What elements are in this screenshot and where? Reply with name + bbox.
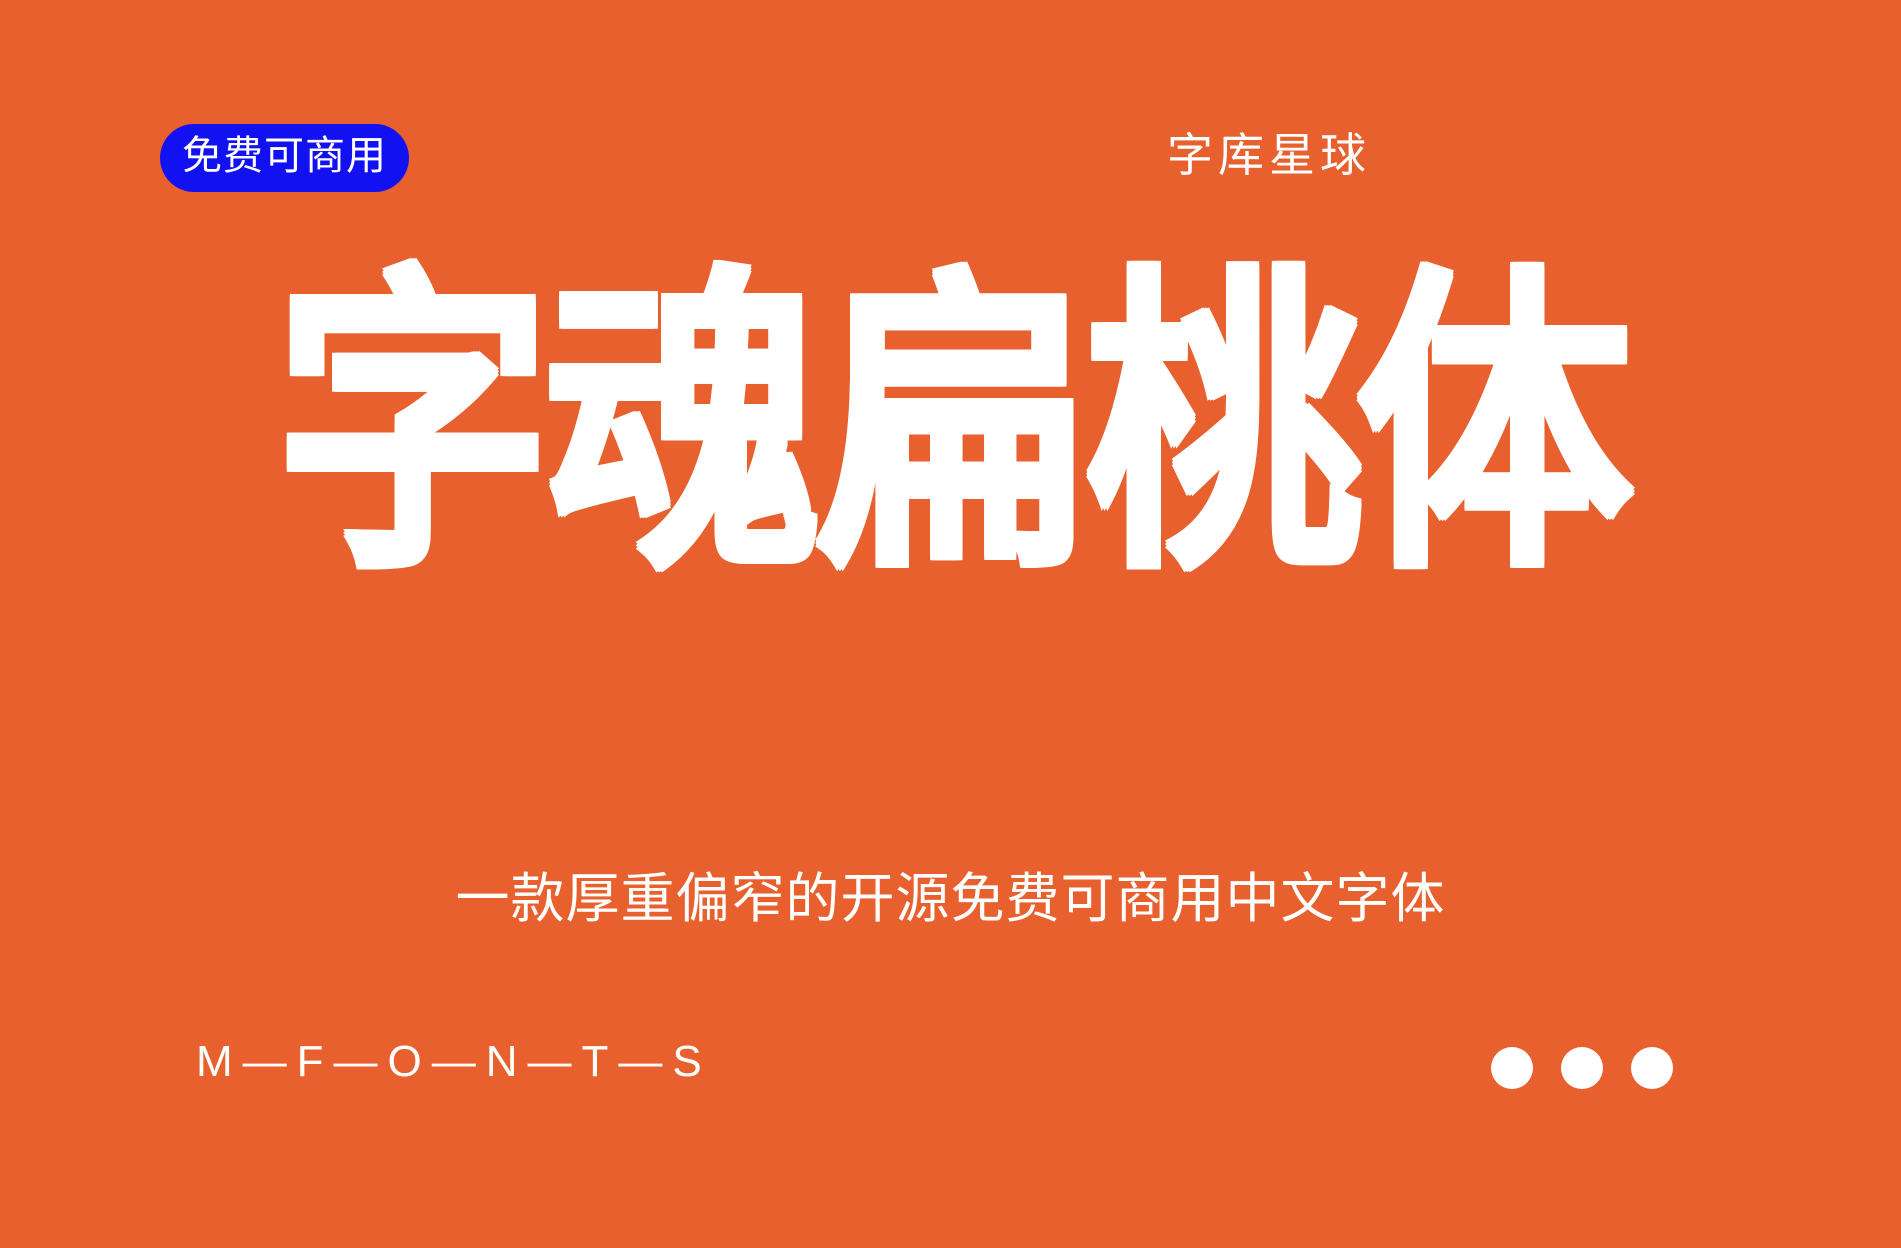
font-description-subtitle: 一款厚重偏窄的开源免费可商用中文字体 [0, 872, 1901, 926]
poster-canvas: 免费可商用 字库星球 字魂扁桃体 一款厚重偏窄的开源免费可商用中文字体 M—F—… [0, 0, 1901, 1248]
dot-icon-1 [1491, 1047, 1533, 1089]
free-commercial-use-badge: 免费可商用 [160, 124, 409, 192]
brand-name: 字库星球 [1167, 126, 1371, 186]
free-commercial-use-badge-label: 免费可商用 [182, 136, 387, 176]
font-name-title: 字魂扁桃体 [274, 268, 1626, 586]
footer-wordmark: M—F—O—N—T—S [196, 1040, 712, 1084]
dot-icon-2 [1561, 1047, 1603, 1089]
hero-title-block: 字魂扁桃体 [0, 268, 1901, 568]
decorative-dots [1491, 1047, 1673, 1089]
dot-icon-3 [1631, 1047, 1673, 1089]
